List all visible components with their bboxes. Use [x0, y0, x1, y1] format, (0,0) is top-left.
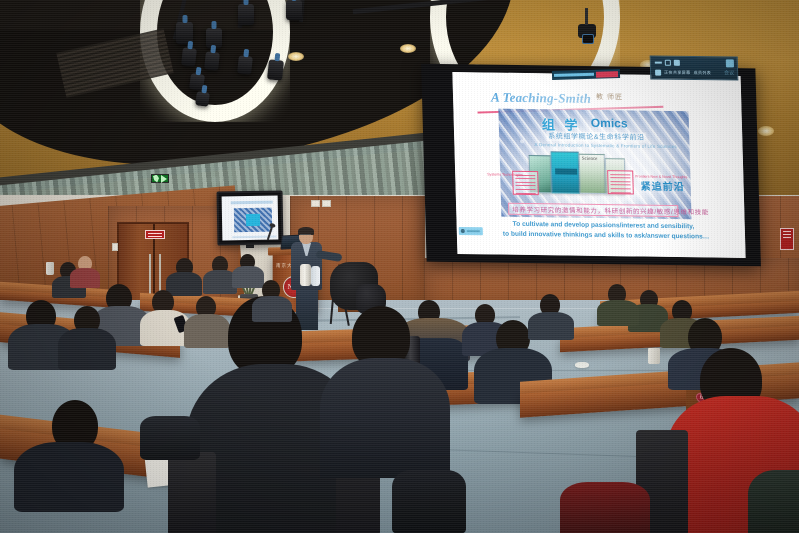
- slide-omics-heading-en: Omics: [591, 116, 628, 131]
- water-bottle: [300, 264, 311, 286]
- ceiling-projector: [578, 24, 596, 38]
- downlight: [400, 44, 416, 53]
- downlight: [758, 126, 774, 136]
- presenter-glasses: [300, 234, 311, 237]
- fire-safety-sign-right: [780, 228, 794, 250]
- conference-status-row[interactable]: 正在共享屏幕 成员列表: [655, 70, 711, 77]
- slide-book-cover-1: [551, 151, 580, 193]
- exit-sign-icon: [151, 174, 169, 183]
- door-handle[interactable]: [159, 254, 161, 294]
- floor-litter: [575, 362, 589, 368]
- bag: [140, 416, 200, 460]
- wall-outlet-plate[interactable]: [311, 200, 320, 207]
- grid-view-icon[interactable]: [674, 60, 680, 66]
- monitor-mount: [246, 244, 254, 248]
- conference-brand-label: 会议: [724, 69, 734, 76]
- badge-dot-icon: [461, 229, 465, 233]
- audience-shoulders: [184, 314, 230, 348]
- confidence-monitor: [217, 190, 284, 245]
- stage-spotlight: [181, 47, 197, 66]
- slide-corner-badge: [459, 227, 483, 235]
- audience-shoulders: [70, 268, 100, 288]
- notification-action-button[interactable]: [596, 71, 618, 78]
- minimize-icon[interactable]: [655, 62, 662, 64]
- stage-spotlight: [204, 51, 220, 70]
- fire-safety-sign: [145, 230, 165, 239]
- paper-cup: [648, 348, 660, 364]
- audience-shoulders: [320, 358, 450, 478]
- conference-window-controls[interactable]: [655, 60, 680, 66]
- slide-omics-subtitle-cn: 系统组学概论&生命科学前沿: [546, 131, 647, 142]
- audience-shoulders: [748, 470, 799, 533]
- conference-status-label: 正在共享屏幕: [664, 70, 691, 76]
- audience-shoulders: [528, 312, 574, 340]
- conference-toolbar[interactable]: 正在共享屏幕 成员列表 会议: [650, 56, 739, 81]
- slide-journal-cover-science: Science: [579, 154, 606, 194]
- bag: [392, 470, 466, 533]
- projection-screen: A Teaching-Smith 教 师匠 组 学 Omics 系统组学概论&生…: [452, 72, 745, 258]
- slide-right-topic-box: [607, 170, 634, 194]
- exit-arrow-icon: [161, 175, 167, 183]
- slide-left-side-note: Systems Technologies: [487, 172, 523, 178]
- paper-cup: [46, 262, 54, 275]
- conference-participants-label[interactable]: 成员列表: [693, 70, 711, 76]
- stage-spotlight: [286, 0, 302, 20]
- wall-outlet-plate[interactable]: [322, 200, 331, 207]
- audience-shoulders: [14, 442, 124, 512]
- slide-right-callout: 紧追前沿: [640, 178, 684, 194]
- audience-shoulders: [58, 328, 116, 370]
- microphone-icon[interactable]: [655, 70, 661, 76]
- stage-spotlight: [267, 59, 284, 80]
- notification-message: [554, 73, 594, 77]
- screen-notification-chip[interactable]: [552, 69, 620, 80]
- audience-shoulders: [166, 272, 202, 296]
- audience-shoulders: [232, 266, 264, 288]
- downlight: [288, 52, 304, 61]
- stage-spotlight: [195, 91, 210, 107]
- conference-settings-icon[interactable]: [726, 59, 734, 67]
- audience-shoulders: [597, 300, 639, 326]
- chair-back: [168, 452, 216, 533]
- stage-spotlight: [237, 55, 253, 74]
- window-icon[interactable]: [665, 60, 671, 66]
- presentation-slide: A Teaching-Smith 教 师匠 组 学 Omics 系统组学概论&生…: [452, 72, 745, 258]
- door-handle[interactable]: [149, 254, 151, 294]
- stage-spotlight: [238, 4, 254, 25]
- audience-shoulders: [252, 296, 292, 322]
- running-man-icon: [153, 175, 159, 183]
- wall-switch-plate[interactable]: [112, 243, 118, 251]
- water-bottle: [311, 266, 320, 286]
- badge-bar: [467, 230, 480, 232]
- backpack: [560, 482, 650, 533]
- lecture-hall-photo: A Teaching-Smith 教 师匠 组 学 Omics 系统组学概论&生…: [0, 0, 799, 533]
